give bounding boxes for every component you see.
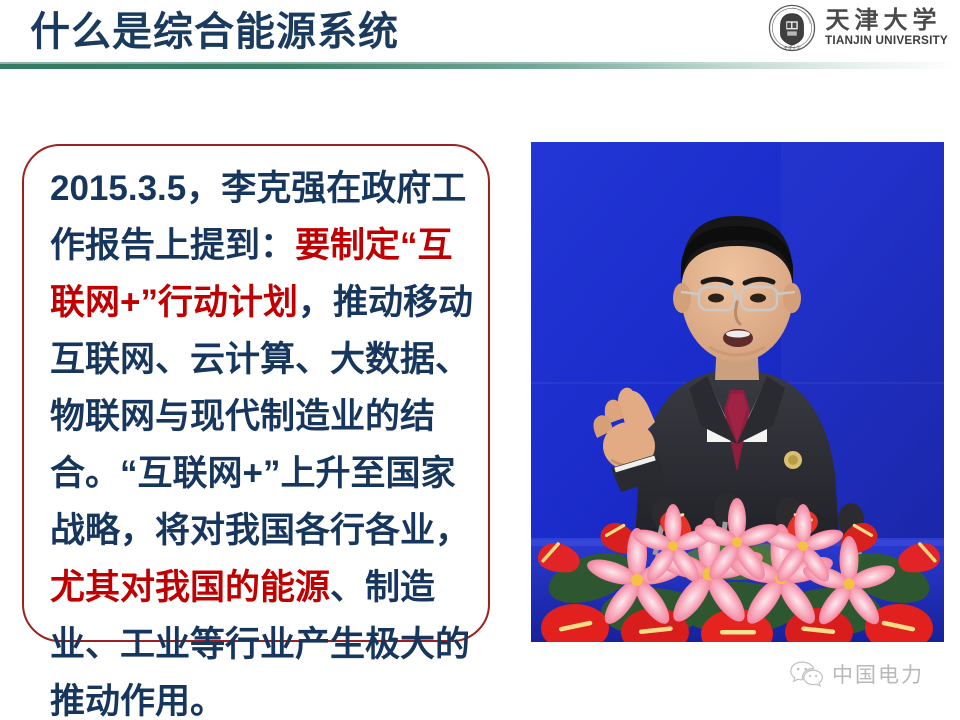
wechat-icon — [790, 660, 824, 688]
university-name-en: TIANJIN UNIVERSITY — [825, 36, 948, 48]
wechat-watermark: 中国电力 — [790, 659, 924, 689]
quote-segment-3: 尤其对我国的能源 — [50, 568, 330, 607]
quote-text: 2015.3.5，李克强在政府工作报告上提到：要制定“互联网+”行动计划，推动移… — [50, 160, 480, 720]
speaker-photo-illustration — [531, 142, 944, 642]
svg-text:天津大学: 天津大学 — [784, 45, 802, 52]
quote-segment-2: ，推动移动互联网、云计算、大数据、物联网与现代制造业的结合。“互联网+”上升至国… — [50, 283, 473, 550]
university-seal-icon: 天津大学 — [768, 4, 816, 52]
page-title: 什么是综合能源系统 — [30, 8, 399, 56]
speaker-photo — [531, 142, 944, 642]
slide-canvas: 什么是综合能源系统 天津大学 天津大学 TIANJIN UNIVERSITY 2… — [0, 0, 960, 720]
wechat-label: 中国电力 — [832, 659, 924, 689]
university-logo: 天津大学 天津大学 TIANJIN UNIVERSITY — [768, 4, 946, 52]
title-divider-highlight — [0, 62, 960, 64]
university-name-cn: 天津大学 — [825, 9, 946, 33]
university-name-block: 天津大学 TIANJIN UNIVERSITY — [825, 9, 946, 48]
